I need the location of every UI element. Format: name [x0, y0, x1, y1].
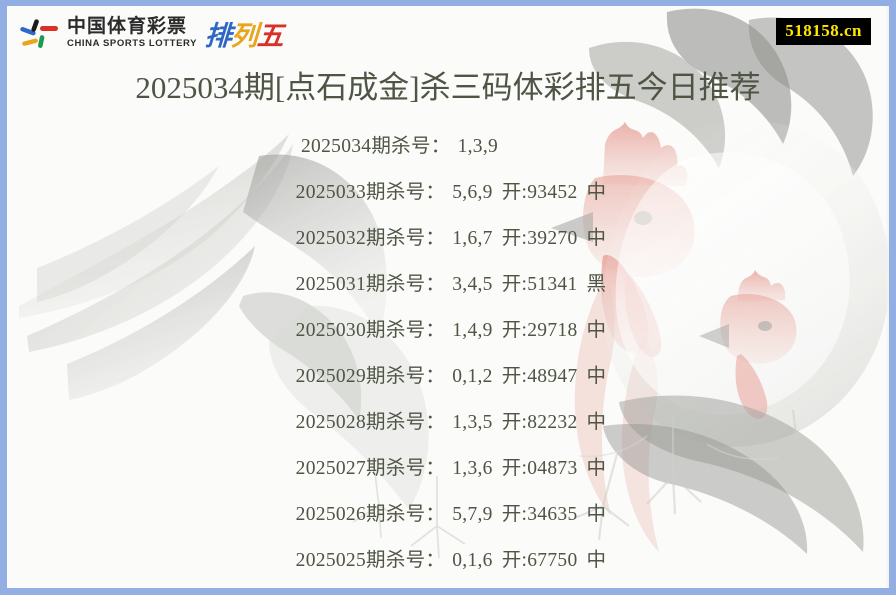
prediction-list: 2025034期杀号：1,3,9 2025033期杀号：5,6,9开:93452… — [7, 124, 889, 584]
row-kill-numbers: 1,3,9 — [458, 136, 499, 157]
site-watermark-badge: 518158.cn — [776, 18, 871, 45]
game-logo-char-1: 排 — [204, 21, 232, 51]
row-period-label: 2025031期杀号： — [296, 274, 446, 295]
row-draw-result: 开:34635 — [502, 504, 578, 525]
game-logo-pailiewu: 排列五 — [204, 14, 284, 53]
row-draw-result: 开:67750 — [502, 550, 578, 571]
row-period-label: 2025029期杀号： — [296, 366, 446, 387]
list-item: 2025028期杀号：1,3,5开:82232中 — [7, 400, 889, 446]
row-period-label: 2025028期杀号： — [296, 412, 446, 433]
row-draw-result: 开:51341 — [502, 274, 578, 295]
row-draw-result: 开:39270 — [502, 228, 578, 249]
game-logo-char-3: 五 — [256, 21, 284, 51]
row-period-label: 2025030期杀号： — [296, 320, 446, 341]
row-hit-status: 中 — [587, 550, 607, 571]
row-draw-result: 开:93452 — [502, 182, 578, 203]
row-kill-numbers: 3,4,5 — [452, 274, 493, 295]
row-draw-result: 开:29718 — [502, 320, 578, 341]
list-item: 2025029期杀号：0,1,2开:48947中 — [7, 354, 889, 400]
row-kill-numbers: 0,1,2 — [452, 366, 493, 387]
row-kill-numbers: 1,3,6 — [452, 458, 493, 479]
list-item: 2025033期杀号：5,6,9开:93452中 — [7, 170, 889, 216]
list-item: 2025025期杀号：0,1,6开:67750中 — [7, 538, 889, 584]
row-draw-result: 开:82232 — [502, 412, 578, 433]
row-hit-status: 中 — [587, 458, 607, 479]
brand-name-en: CHINA SPORTS LOTTERY — [67, 39, 197, 49]
content-canvas: 中国体育彩票 CHINA SPORTS LOTTERY 排列五 518158.c… — [7, 6, 889, 588]
row-period-label: 2025033期杀号： — [296, 182, 446, 203]
row-period-label: 2025032期杀号： — [296, 228, 446, 249]
brand-name-cn: 中国体育彩票 — [67, 17, 197, 36]
row-kill-numbers: 5,7,9 — [452, 504, 493, 525]
row-period-label: 2025027期杀号： — [296, 458, 446, 479]
row-period-label: 2025025期杀号： — [296, 550, 446, 571]
row-hit-status: 中 — [587, 320, 607, 341]
row-kill-numbers: 1,4,9 — [452, 320, 493, 341]
list-item: 2025031期杀号：3,4,5开:51341黑 — [7, 262, 889, 308]
row-period-label: 2025026期杀号： — [296, 504, 446, 525]
row-kill-numbers: 0,1,6 — [452, 550, 493, 571]
list-item: 2025026期杀号：5,7,9开:34635中 — [7, 492, 889, 538]
row-hit-status: 中 — [587, 228, 607, 249]
row-kill-numbers: 1,3,5 — [452, 412, 493, 433]
row-hit-status: 中 — [587, 182, 607, 203]
sports-lottery-logo-icon — [19, 15, 61, 51]
list-item: 2025034期杀号：1,3,9 — [7, 124, 889, 170]
row-period-label: 2025034期杀号： — [301, 136, 451, 157]
row-hit-status: 中 — [587, 366, 607, 387]
page-root: 中国体育彩票 CHINA SPORTS LOTTERY 排列五 518158.c… — [0, 0, 896, 595]
row-kill-numbers: 1,6,7 — [452, 228, 493, 249]
brand-text-block: 中国体育彩票 CHINA SPORTS LOTTERY — [67, 17, 197, 49]
page-title: 2025034期[点石成金]杀三码体彩排五今日推荐 — [7, 62, 889, 107]
row-hit-status: 中 — [587, 504, 607, 525]
list-item: 2025030期杀号：1,4,9开:29718中 — [7, 308, 889, 354]
brand-logo[interactable]: 中国体育彩票 CHINA SPORTS LOTTERY 排列五 — [19, 12, 283, 54]
list-item: 2025032期杀号：1,6,7开:39270中 — [7, 216, 889, 262]
list-item: 2025027期杀号：1,3,6开:04873中 — [7, 446, 889, 492]
page-header: 中国体育彩票 CHINA SPORTS LOTTERY 排列五 518158.c… — [7, 6, 889, 62]
row-kill-numbers: 5,6,9 — [452, 182, 493, 203]
game-logo-char-2: 列 — [230, 21, 258, 51]
row-draw-result: 开:04873 — [502, 458, 578, 479]
row-hit-status: 中 — [587, 412, 607, 433]
row-draw-result: 开:48947 — [502, 366, 578, 387]
row-hit-status: 黑 — [587, 274, 607, 295]
